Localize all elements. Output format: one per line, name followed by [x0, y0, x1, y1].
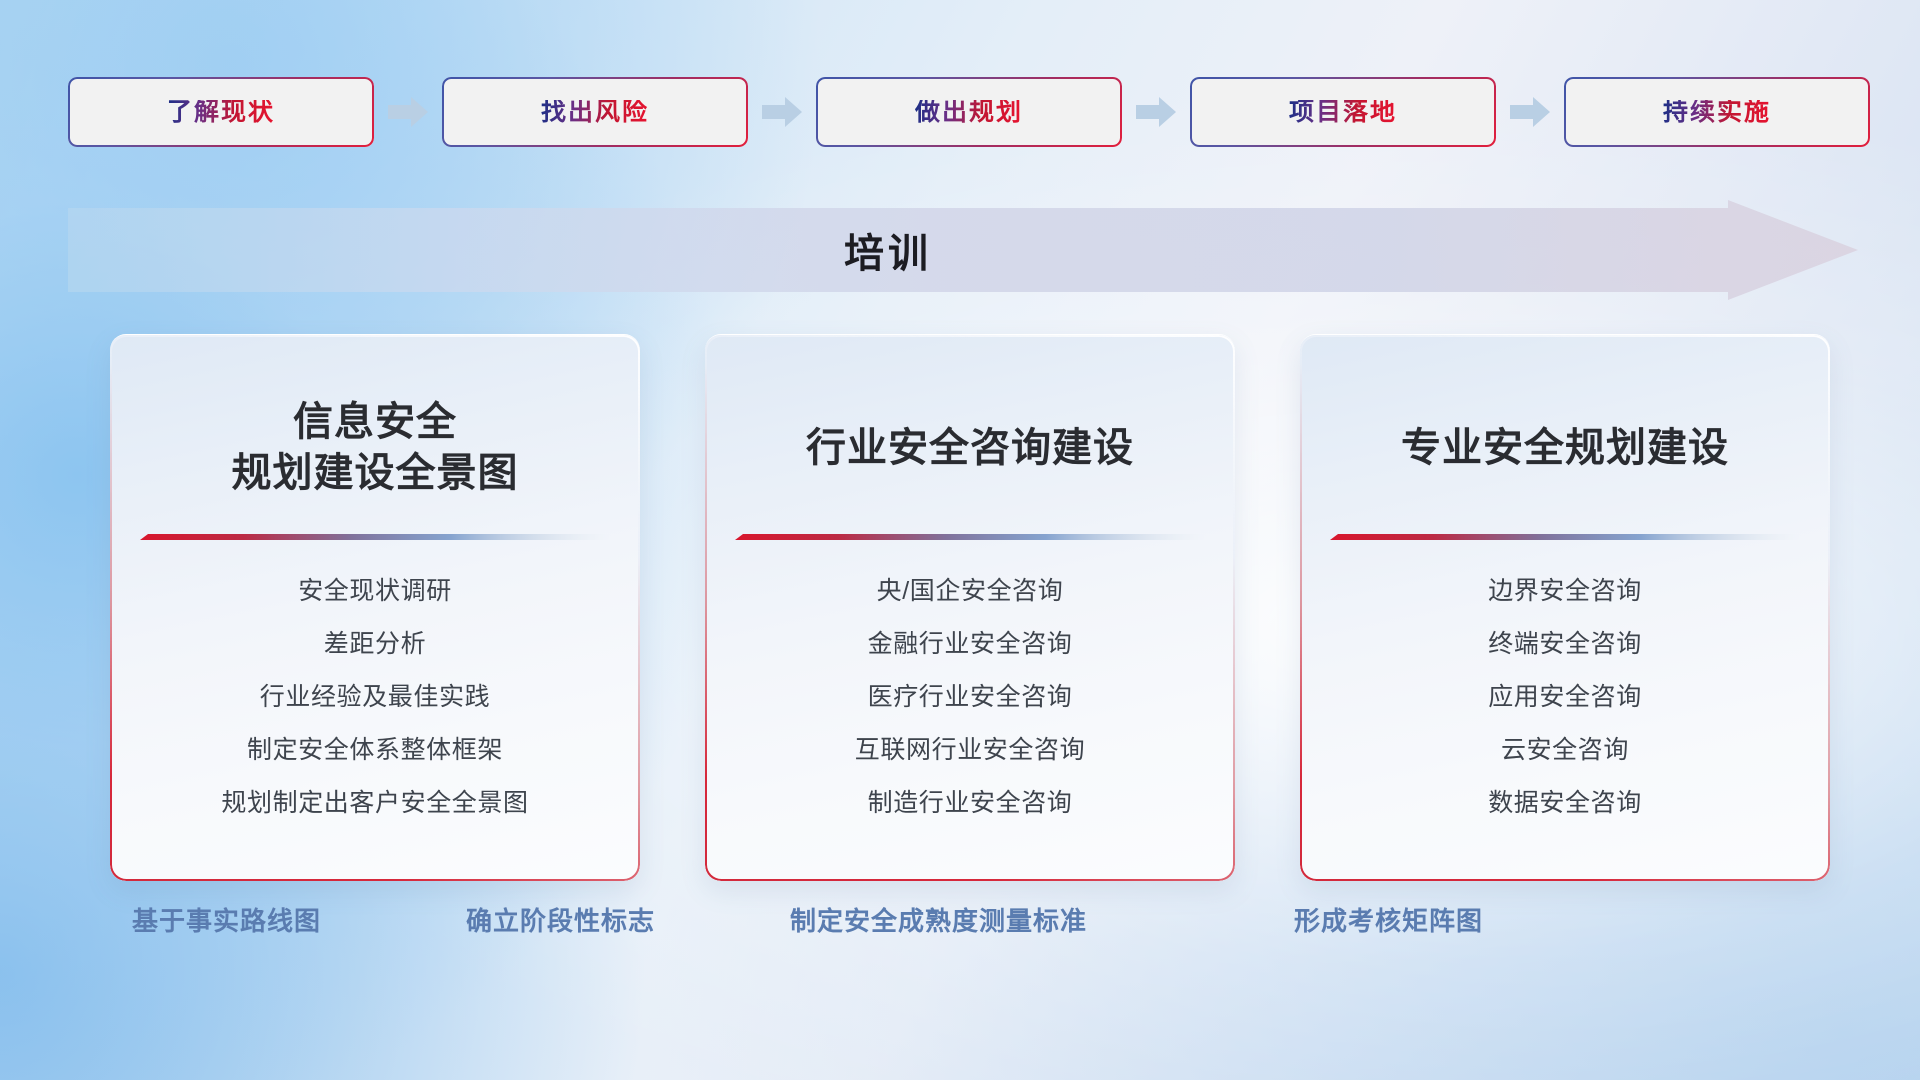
accent-rule: [1330, 533, 1800, 542]
footnote-label: 制定安全成熟度测量标准: [790, 908, 1087, 934]
step-box-3[interactable]: 项目落地: [1190, 77, 1496, 147]
list-item: 互联网行业安全咨询: [705, 738, 1235, 763]
step-box-2[interactable]: 做出规划: [816, 77, 1122, 147]
card-1[interactable]: 行业安全咨询建设: [705, 334, 1235, 881]
step-box-4[interactable]: 持续实施: [1564, 77, 1870, 147]
card-list: 边界安全咨询 终端安全咨询 应用安全咨询 云安全咨询 数据安全咨询: [1300, 579, 1830, 816]
card-list: 央/国企安全咨询 金融行业安全咨询 医疗行业安全咨询 互联网行业安全咨询 制造行…: [705, 579, 1235, 816]
list-item: 终端安全咨询: [1300, 632, 1830, 657]
list-item: 金融行业安全咨询: [705, 632, 1235, 657]
list-item: 规划制定出客户安全全景图: [110, 791, 640, 816]
step-label: 做出规划: [915, 100, 1023, 125]
card-title: 专业安全规划建设: [1300, 335, 1830, 474]
list-item: 应用安全咨询: [1300, 685, 1830, 710]
footnote-label: 基于事实路线图: [132, 908, 321, 934]
step-label: 了解现状: [167, 100, 275, 125]
list-item: 云安全咨询: [1300, 738, 1830, 763]
list-item: 边界安全咨询: [1300, 579, 1830, 604]
step-box-1[interactable]: 找出风险: [442, 77, 748, 147]
list-item: 制造行业安全咨询: [705, 791, 1235, 816]
step-label: 持续实施: [1663, 100, 1771, 125]
slide-canvas: 了解现状 找出风险 做出规划 项目落地 持续实施: [0, 0, 1920, 1080]
arrow-right-icon: [762, 97, 802, 127]
arrow-right-icon: [1136, 97, 1176, 127]
list-item: 医疗行业安全咨询: [705, 685, 1235, 710]
banner-label: 培训: [68, 200, 1708, 300]
list-item: 安全现状调研: [110, 579, 640, 604]
arrow-right-icon: [1510, 97, 1550, 127]
card-row: 信息安全 规划建设全景图: [110, 334, 1830, 880]
list-item: 数据安全咨询: [1300, 791, 1830, 816]
list-item: 制定安全体系整体框架: [110, 738, 640, 763]
accent-rule: [140, 533, 610, 542]
card-0[interactable]: 信息安全 规划建设全景图: [110, 334, 640, 881]
training-banner: 培训: [68, 200, 1858, 300]
arrow-right-icon: [388, 97, 428, 127]
step-label: 项目落地: [1289, 100, 1397, 125]
footnote-label: 形成考核矩阵图: [1294, 908, 1483, 934]
process-step-row: 了解现状 找出风险 做出规划 项目落地 持续实施: [68, 76, 1858, 148]
footnote-label: 确立阶段性标志: [466, 908, 655, 934]
card-title: 行业安全咨询建设: [705, 335, 1235, 474]
step-box-0[interactable]: 了解现状: [68, 77, 374, 147]
list-item: 央/国企安全咨询: [705, 579, 1235, 604]
list-item: 行业经验及最佳实践: [110, 685, 640, 710]
accent-rule: [735, 533, 1205, 542]
card-2[interactable]: 专业安全规划建设: [1300, 334, 1830, 881]
step-label: 找出风险: [541, 100, 649, 125]
card-list: 安全现状调研 差距分析 行业经验及最佳实践 制定安全体系整体框架 规划制定出客户…: [110, 579, 640, 816]
list-item: 差距分析: [110, 632, 640, 657]
footnote-row: 基于事实路线图 确立阶段性标志 制定安全成熟度测量标准 形成考核矩阵图: [0, 908, 1920, 954]
card-title: 信息安全 规划建设全景图: [110, 335, 640, 499]
